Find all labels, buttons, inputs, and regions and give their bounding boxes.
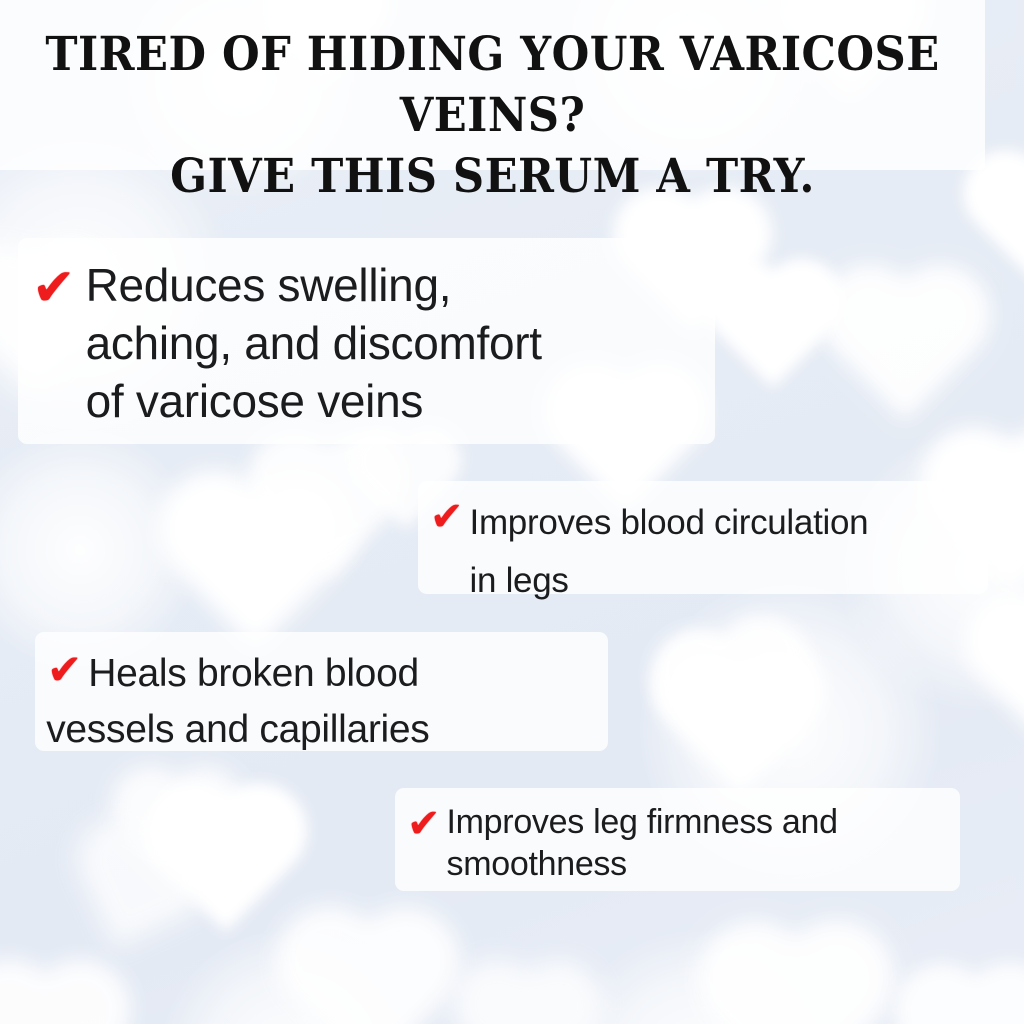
benefit-text-3-line1: Heals broken blood (88, 652, 419, 695)
benefit-text-3: Heals broken bloodvessels and capillarie… (88, 646, 429, 758)
heart-bokeh (130, 750, 320, 940)
heart-bokeh (100, 740, 255, 895)
benefit-text-2: Improves blood circulationin legs (470, 494, 869, 610)
benefit-text-3-line2: vessels and capillaries (46, 702, 429, 758)
benefit-text-2-line2: in legs (470, 552, 869, 610)
heart-bokeh (640, 605, 840, 805)
check-mark-icon: ✔ (430, 497, 464, 537)
glow-blob (160, 930, 420, 1024)
heart-bokeh (260, 870, 475, 1024)
heart-bokeh (37, 777, 242, 982)
check-mark-icon: ✔ (47, 649, 82, 691)
benefit-card-1: ✔ Reduces swelling, aching, and discomfo… (18, 238, 715, 444)
page-title: TIRED OF HIDING YOUR VARICOSE VEINS? GIV… (39, 24, 945, 207)
heart-bokeh (880, 930, 1024, 1024)
check-mark-icon: ✔ (407, 804, 441, 844)
headline-band: TIRED OF HIDING YOUR VARICOSE VEINS? GIV… (0, 0, 985, 170)
heart-bokeh (805, 230, 1005, 430)
glow-blob (560, 930, 840, 1024)
benefit-card-4: ✔ Improves leg firmness and smoothness (395, 788, 960, 891)
benefit-text-4: Improves leg firmness and smoothness (447, 801, 838, 885)
benefit-card-2: ✔ Improves blood circulationin legs (418, 481, 988, 594)
heart-bokeh (0, 925, 145, 1024)
check-mark-icon: ✔ (32, 262, 76, 314)
poster-canvas: TIRED OF HIDING YOUR VARICOSE VEINS? GIV… (0, 0, 1024, 1024)
heart-bokeh (680, 880, 910, 1024)
benefit-text-2-line1: Improves blood circulation (470, 503, 869, 542)
heart-bokeh (140, 430, 370, 660)
benefit-text-1: Reduces swelling, aching, and discomfort… (86, 256, 542, 430)
benefit-card-3: ✔ Heals broken bloodvessels and capillar… (35, 632, 608, 751)
heart-bokeh (440, 930, 615, 1024)
